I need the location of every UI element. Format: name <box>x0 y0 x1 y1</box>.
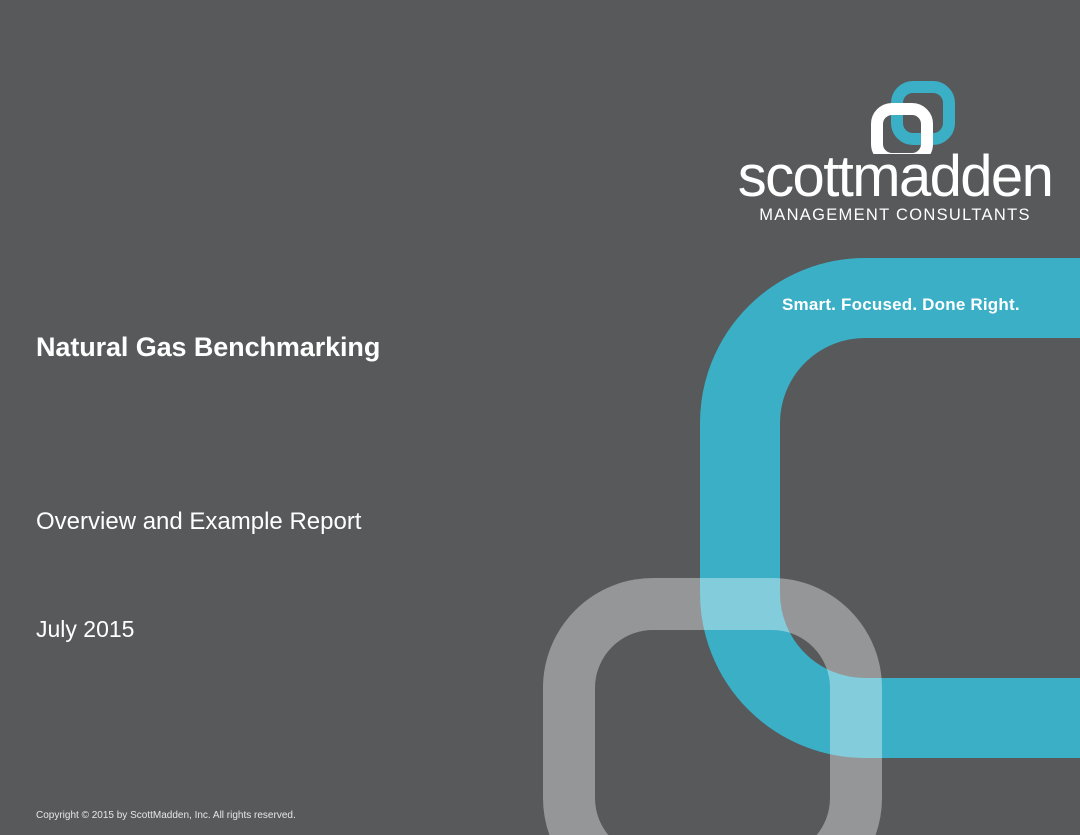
slide-title: Natural Gas Benchmarking <box>36 332 380 363</box>
logo-subtitle: MANAGEMENT CONSULTANTS <box>730 206 1060 225</box>
tagline: Smart. Focused. Done Right. <box>782 295 1020 315</box>
copyright-notice: Copyright © 2015 by ScottMadden, Inc. Al… <box>36 810 296 821</box>
scottmadden-squares-icon <box>798 78 958 154</box>
slide-subtitle: Overview and Example Report <box>36 508 361 536</box>
company-logo: scottmadden MANAGEMENT CONSULTANTS <box>730 78 1060 233</box>
slide-date: July 2015 <box>36 616 134 643</box>
title-slide: Smart. Focused. Done Right. scottmadden … <box>0 0 1080 835</box>
grey-rounded-square-shape <box>543 578 882 835</box>
logo-wordmark: scottmadden <box>730 146 1060 208</box>
teal-rounded-square-shape <box>700 258 1080 758</box>
